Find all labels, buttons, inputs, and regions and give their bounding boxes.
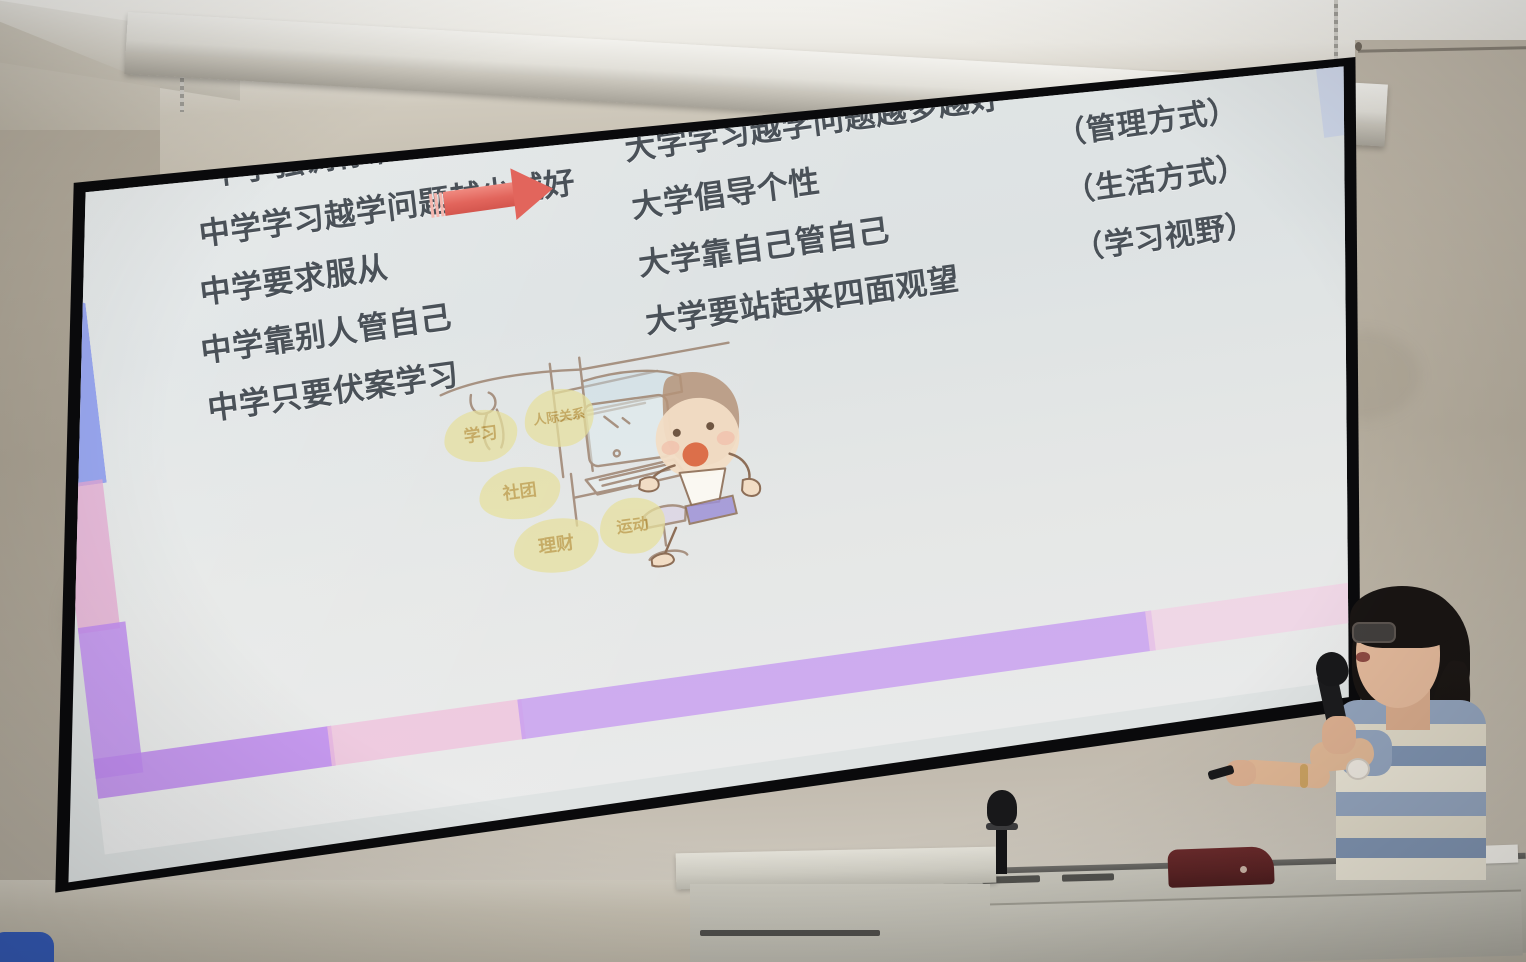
classroom-scene: 中学大家忙一样 中学强调标准 中学学习越学问题越少越好 中学要求服从 中学靠别人… (0, 0, 1526, 962)
bracelet (1300, 764, 1308, 788)
presenter-hand-holding-microphone (1322, 716, 1356, 754)
arrow-head (510, 163, 556, 220)
lectern-top (676, 847, 997, 890)
rail-slot (1062, 873, 1114, 881)
student-at-computer-illustration: 学习 人际关系 社团 理财 运动 (430, 329, 785, 608)
lectern-drawer-slot (700, 930, 880, 936)
deco-bar-bottom-purple-2 (517, 611, 1156, 740)
lectern-body (690, 884, 990, 962)
arrow-shaft (443, 181, 523, 216)
presenter-glasses (1352, 622, 1396, 643)
projection-screen: 中学大家忙一样 中学强调标准 中学学习越学问题越少越好 中学要求服从 中学靠别人… (0, 0, 1526, 962)
deco-bar-blue (378, 46, 479, 54)
deco-bar-bottom-pink-2 (1145, 582, 1358, 651)
chair-stud (1240, 866, 1247, 873)
cartoon-line-art (430, 329, 785, 608)
deco-bar-bottom-pink (327, 699, 526, 766)
wristwatch (1346, 758, 1370, 780)
blue-bag (0, 932, 54, 962)
category-label: （学习要求） (1019, 46, 1273, 52)
chair-back (1167, 846, 1274, 888)
university-line: 大学大家不一样忙 (608, 46, 1041, 64)
desk-microphone-head (987, 790, 1017, 826)
presenter-mouth (1356, 652, 1370, 662)
